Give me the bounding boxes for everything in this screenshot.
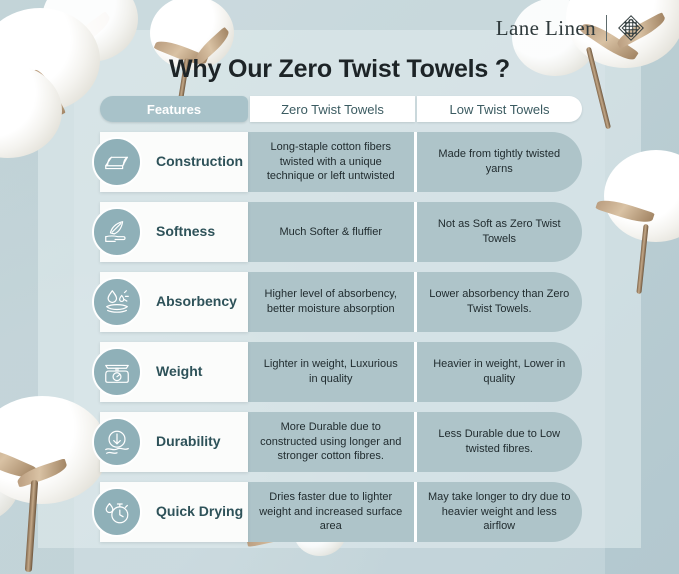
row-cells: More Durable due to constructed using lo…	[248, 412, 582, 472]
feather-in-hand-icon	[92, 207, 142, 257]
woven-lattice-icon	[617, 14, 645, 42]
cell-low-twist: Less Durable due to Low twisted fibres.	[417, 412, 583, 472]
row-cells: Lighter in weight, Luxurious in quality …	[248, 342, 582, 402]
row-cells: Much Softer & fluffier Not as Soft as Ze…	[248, 202, 582, 262]
brand-name: Lane Linen	[496, 16, 596, 41]
row-label-text: Softness	[156, 224, 215, 239]
row-label-softness: Softness	[100, 202, 248, 262]
stopwatch-droplet-icon	[92, 487, 142, 537]
table-row: Construction Long-staple cotton fibers t…	[100, 132, 582, 192]
logo-divider	[606, 15, 607, 41]
header-low-twist: Low Twist Towels	[417, 96, 582, 122]
table-row: Quick Drying Dries faster due to lighter…	[100, 482, 582, 542]
table-header-row: Features Zero Twist Towels Low Twist Tow…	[100, 96, 582, 122]
row-cells: Dries faster due to lighter weight and i…	[248, 482, 582, 542]
header-zero-twist: Zero Twist Towels	[250, 96, 415, 122]
downward-arrow-durability-icon	[92, 417, 142, 467]
row-cells: Higher level of absorbency, better moist…	[248, 272, 582, 332]
cell-low-twist: Not as Soft as Zero Twist Towels	[417, 202, 583, 262]
brand-logo: Lane Linen	[496, 14, 645, 42]
infographic-root: Lane Linen Why Our Zero Twist Towels ? F…	[0, 0, 679, 574]
row-label-quick-drying: Quick Drying	[100, 482, 248, 542]
water-droplet-absorb-icon	[92, 277, 142, 327]
cell-zero-twist: More Durable due to constructed using lo…	[248, 412, 417, 472]
cell-zero-twist: Higher level of absorbency, better moist…	[248, 272, 417, 332]
row-label-text: Weight	[156, 364, 202, 379]
table-row: Weight Lighter in weight, Luxurious in q…	[100, 342, 582, 402]
table-row: Durability More Durable due to construct…	[100, 412, 582, 472]
cell-low-twist: May take longer to dry due to heavier we…	[417, 482, 583, 542]
row-label-text: Quick Drying	[156, 504, 243, 519]
cell-zero-twist: Lighter in weight, Luxurious in quality	[248, 342, 417, 402]
comparison-table: Features Zero Twist Towels Low Twist Tow…	[100, 96, 582, 552]
row-label-text: Construction	[156, 154, 243, 169]
cell-zero-twist: Much Softer & fluffier	[248, 202, 417, 262]
weighing-scale-icon	[92, 347, 142, 397]
cell-low-twist: Heavier in weight, Lower in quality	[417, 342, 583, 402]
row-label-text: Absorbency	[156, 294, 237, 309]
row-label-durability: Durability	[100, 412, 248, 472]
page-title: Why Our Zero Twist Towels ?	[0, 55, 679, 84]
row-label-text: Durability	[156, 434, 221, 449]
header-features: Features	[100, 96, 248, 122]
row-label-construction: Construction	[100, 132, 248, 192]
row-label-absorbency: Absorbency	[100, 272, 248, 332]
cell-zero-twist: Long-staple cotton fibers twisted with a…	[248, 132, 417, 192]
cell-low-twist: Made from tightly twisted yarns	[417, 132, 583, 192]
row-cells: Long-staple cotton fibers twisted with a…	[248, 132, 582, 192]
table-row: Absorbency Higher level of absorbency, b…	[100, 272, 582, 332]
cell-zero-twist: Dries faster due to lighter weight and i…	[248, 482, 417, 542]
row-label-weight: Weight	[100, 342, 248, 402]
folded-towel-icon	[92, 137, 142, 187]
cell-low-twist: Lower absorbency than Zero Twist Towels.	[417, 272, 583, 332]
table-row: Softness Much Softer & fluffier Not as S…	[100, 202, 582, 262]
